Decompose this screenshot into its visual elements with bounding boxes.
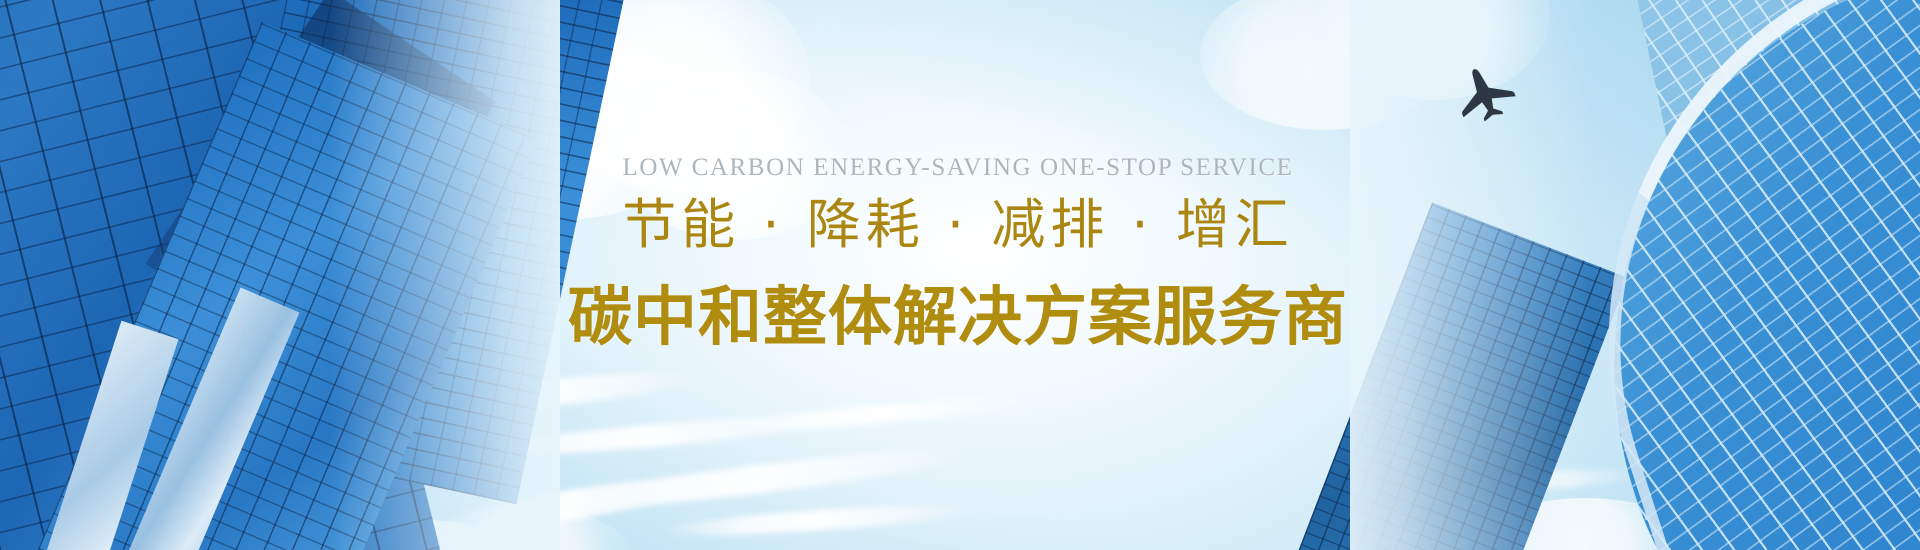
banner-tagline-english: LOW CARBON ENERGY-SAVING ONE-STOP SERVIC…	[0, 153, 1918, 183]
banner-subtitle-chinese: 节能 · 降耗 · 减排 · 增汇	[0, 192, 1918, 258]
hero-banner: LOW CARBON ENERGY-SAVING ONE-STOP SERVIC…	[0, 0, 1920, 550]
banner-headline-chinese: 碳中和整体解决方案服务商	[0, 279, 1918, 357]
